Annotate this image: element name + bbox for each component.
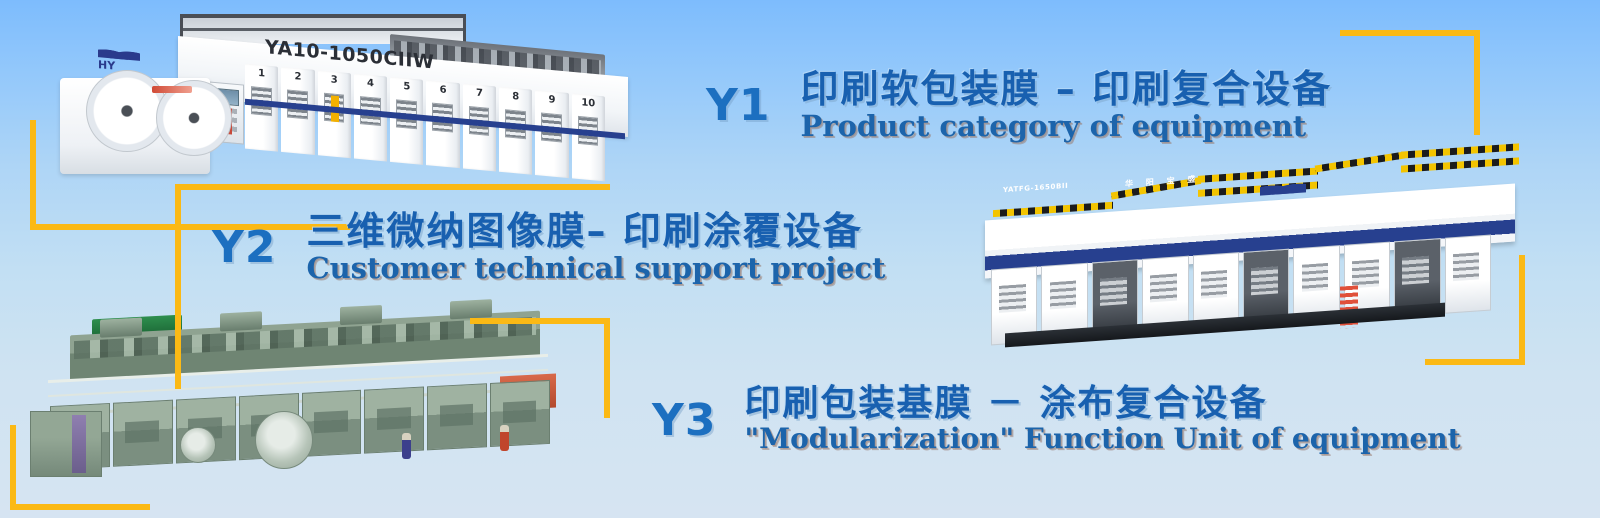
row-y1: Y1 印刷软包装膜 – 印刷复合设备 Product category of e… xyxy=(706,70,1332,141)
blower-unit xyxy=(100,318,142,338)
row-code-y1: Y1 xyxy=(706,84,770,128)
product-category-banner: HY YA10-1050CIIW 1 2 3 4 5 6 7 8 9 10 xyxy=(0,0,1600,518)
unit-number: 6 xyxy=(440,84,447,96)
bracket-photo-2 xyxy=(1425,255,1525,365)
row-y3-subtitle-en: "Modularization" Function Unit of equipm… xyxy=(744,424,1460,453)
bracket-row-y1 xyxy=(1340,30,1480,135)
print-unit: 5 xyxy=(390,77,423,165)
unit-number: 7 xyxy=(476,88,483,100)
row-y3-title-cn: 印刷包装基膜 － 涂布复合设备 xyxy=(744,385,1460,423)
print-unit: 6 xyxy=(426,80,459,168)
unit-number: 10 xyxy=(581,97,595,109)
worker-figure xyxy=(500,425,509,451)
bracket-photo-3-bottom xyxy=(10,425,150,510)
row-y1-title-cn: 印刷软包装膜 – 印刷复合设备 xyxy=(800,70,1331,110)
row-y1-subtitle-en: Product category of equipment xyxy=(800,111,1331,141)
row-y2-subtitle-en: Customer technical support project xyxy=(306,253,885,283)
row-y3-texts: 印刷包装基膜 － 涂布复合设备 "Modularization" Functio… xyxy=(744,385,1460,453)
print-unit: 9 xyxy=(535,90,568,178)
row-code-y2: Y2 xyxy=(212,226,276,270)
print-unit: 10 xyxy=(572,93,605,181)
row-code-y3: Y3 xyxy=(652,399,716,443)
brand-logo-text: HY xyxy=(98,58,115,73)
worker-figure xyxy=(402,433,411,459)
unit-number: 5 xyxy=(403,81,410,93)
unit-number: 4 xyxy=(367,78,374,90)
row-y1-texts: 印刷软包装膜 – 印刷复合设备 Product category of equi… xyxy=(800,70,1331,141)
print-unit: 7 xyxy=(463,83,496,171)
unit-number: 3 xyxy=(331,74,338,86)
row-y2-texts: 三维微纳图像膜– 印刷涂覆设备 Customer technical suppo… xyxy=(306,212,885,283)
coating-roll xyxy=(180,427,216,463)
row-y2: Y2 三维微纳图像膜– 印刷涂覆设备 Customer technical su… xyxy=(212,212,885,283)
print-unit: 8 xyxy=(499,87,532,175)
unit-number: 1 xyxy=(258,68,265,80)
unit-number: 9 xyxy=(549,94,556,106)
unit-number: 2 xyxy=(294,71,301,83)
module xyxy=(364,386,424,453)
bracket-photo-3-top xyxy=(470,318,610,418)
row-y2-title-cn: 三维微纳图像膜– 印刷涂覆设备 xyxy=(306,212,885,252)
row-y3: Y3 印刷包装基膜 － 涂布复合设备 "Modularization" Func… xyxy=(652,385,1461,453)
coating-roll xyxy=(255,411,313,469)
feed-arm xyxy=(152,86,192,93)
print-unit: 4 xyxy=(354,74,387,162)
unit-number: 8 xyxy=(512,91,519,103)
